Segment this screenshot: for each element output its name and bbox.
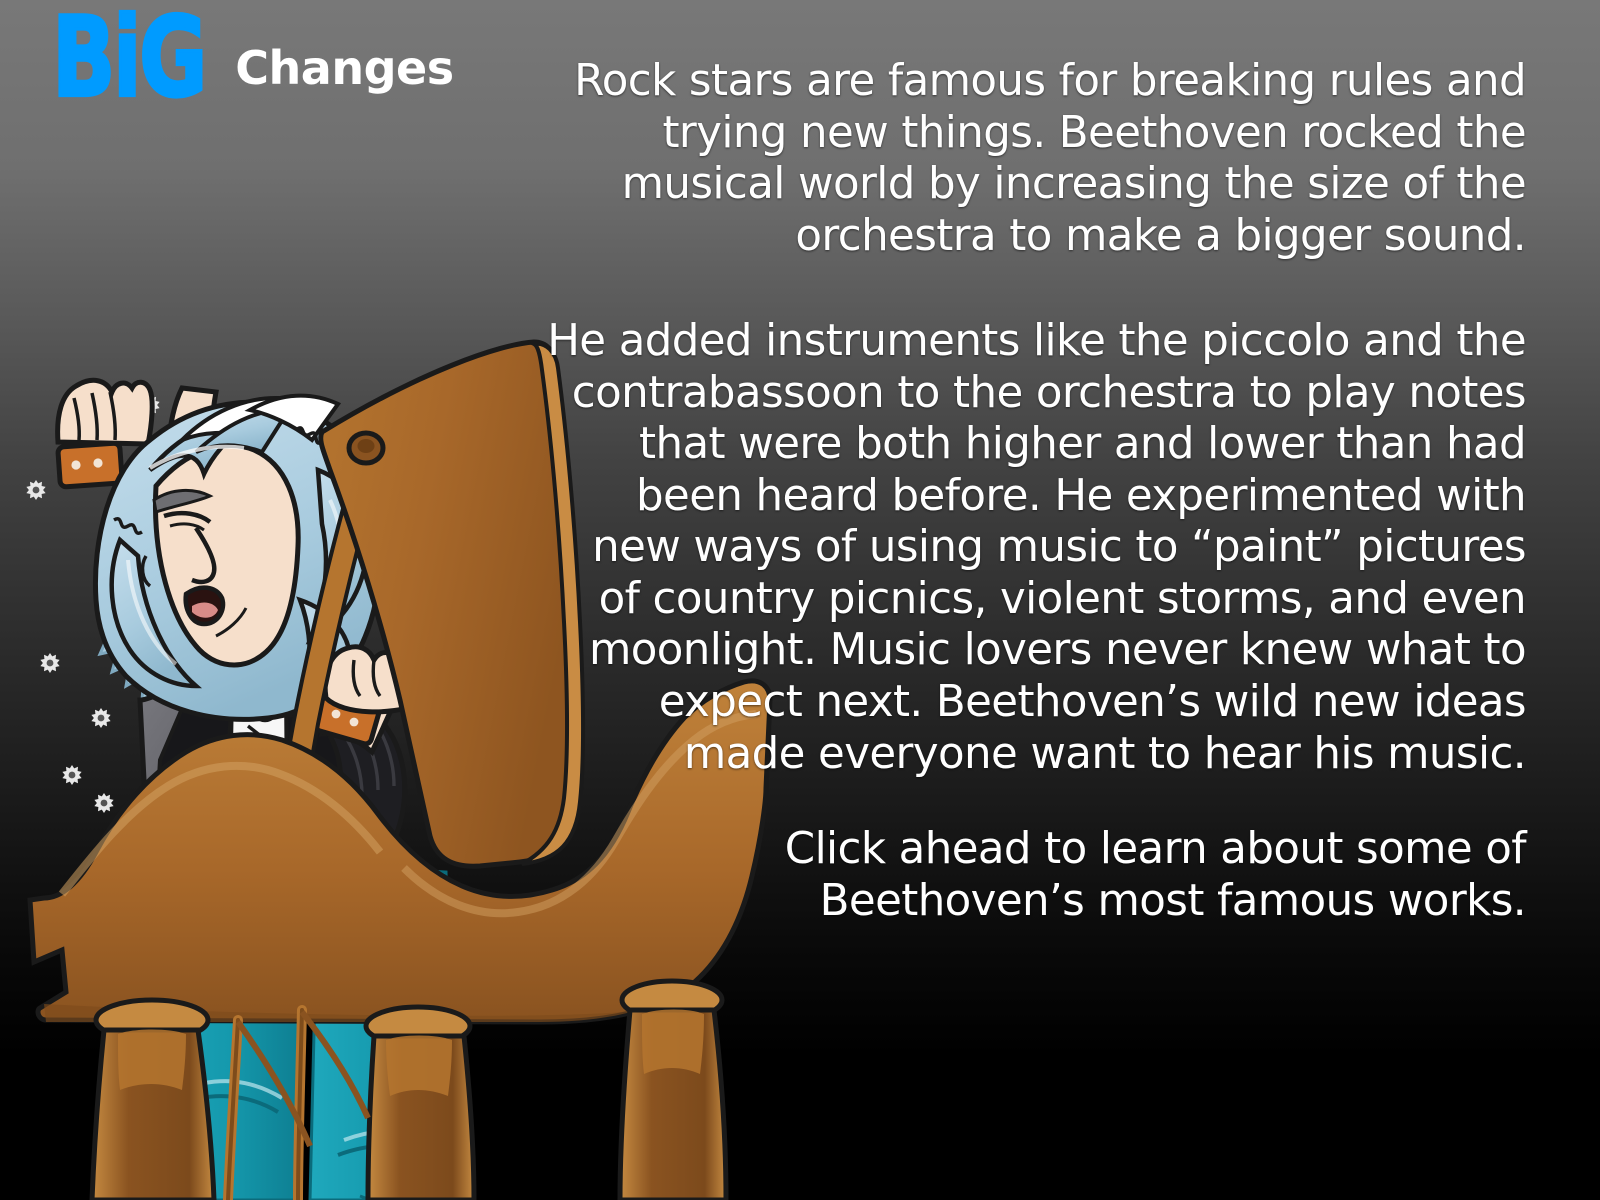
pants [140,860,452,1200]
beethoven-figure [58,380,431,900]
paragraph-1: Rock stars are famous for breaking rules… [541,56,1526,262]
paragraph-2: He added instruments like the piccolo an… [541,316,1526,780]
title-big-word: BiG [52,13,205,103]
page-title: BiG Changes [52,18,454,103]
sparkle-group [26,395,315,813]
piano-prop-stick [252,448,382,870]
body-copy: Rock stars are famous for breaking rules… [541,56,1526,927]
title-sub-word: Changes [235,45,453,103]
piano-legs [92,981,726,1200]
paragraph-3: Click ahead to learn about some of Beeth… [541,824,1526,927]
piano-braces [228,1010,368,1200]
slide-root: BiG Changes Rock stars are famous for br… [0,0,1600,1200]
